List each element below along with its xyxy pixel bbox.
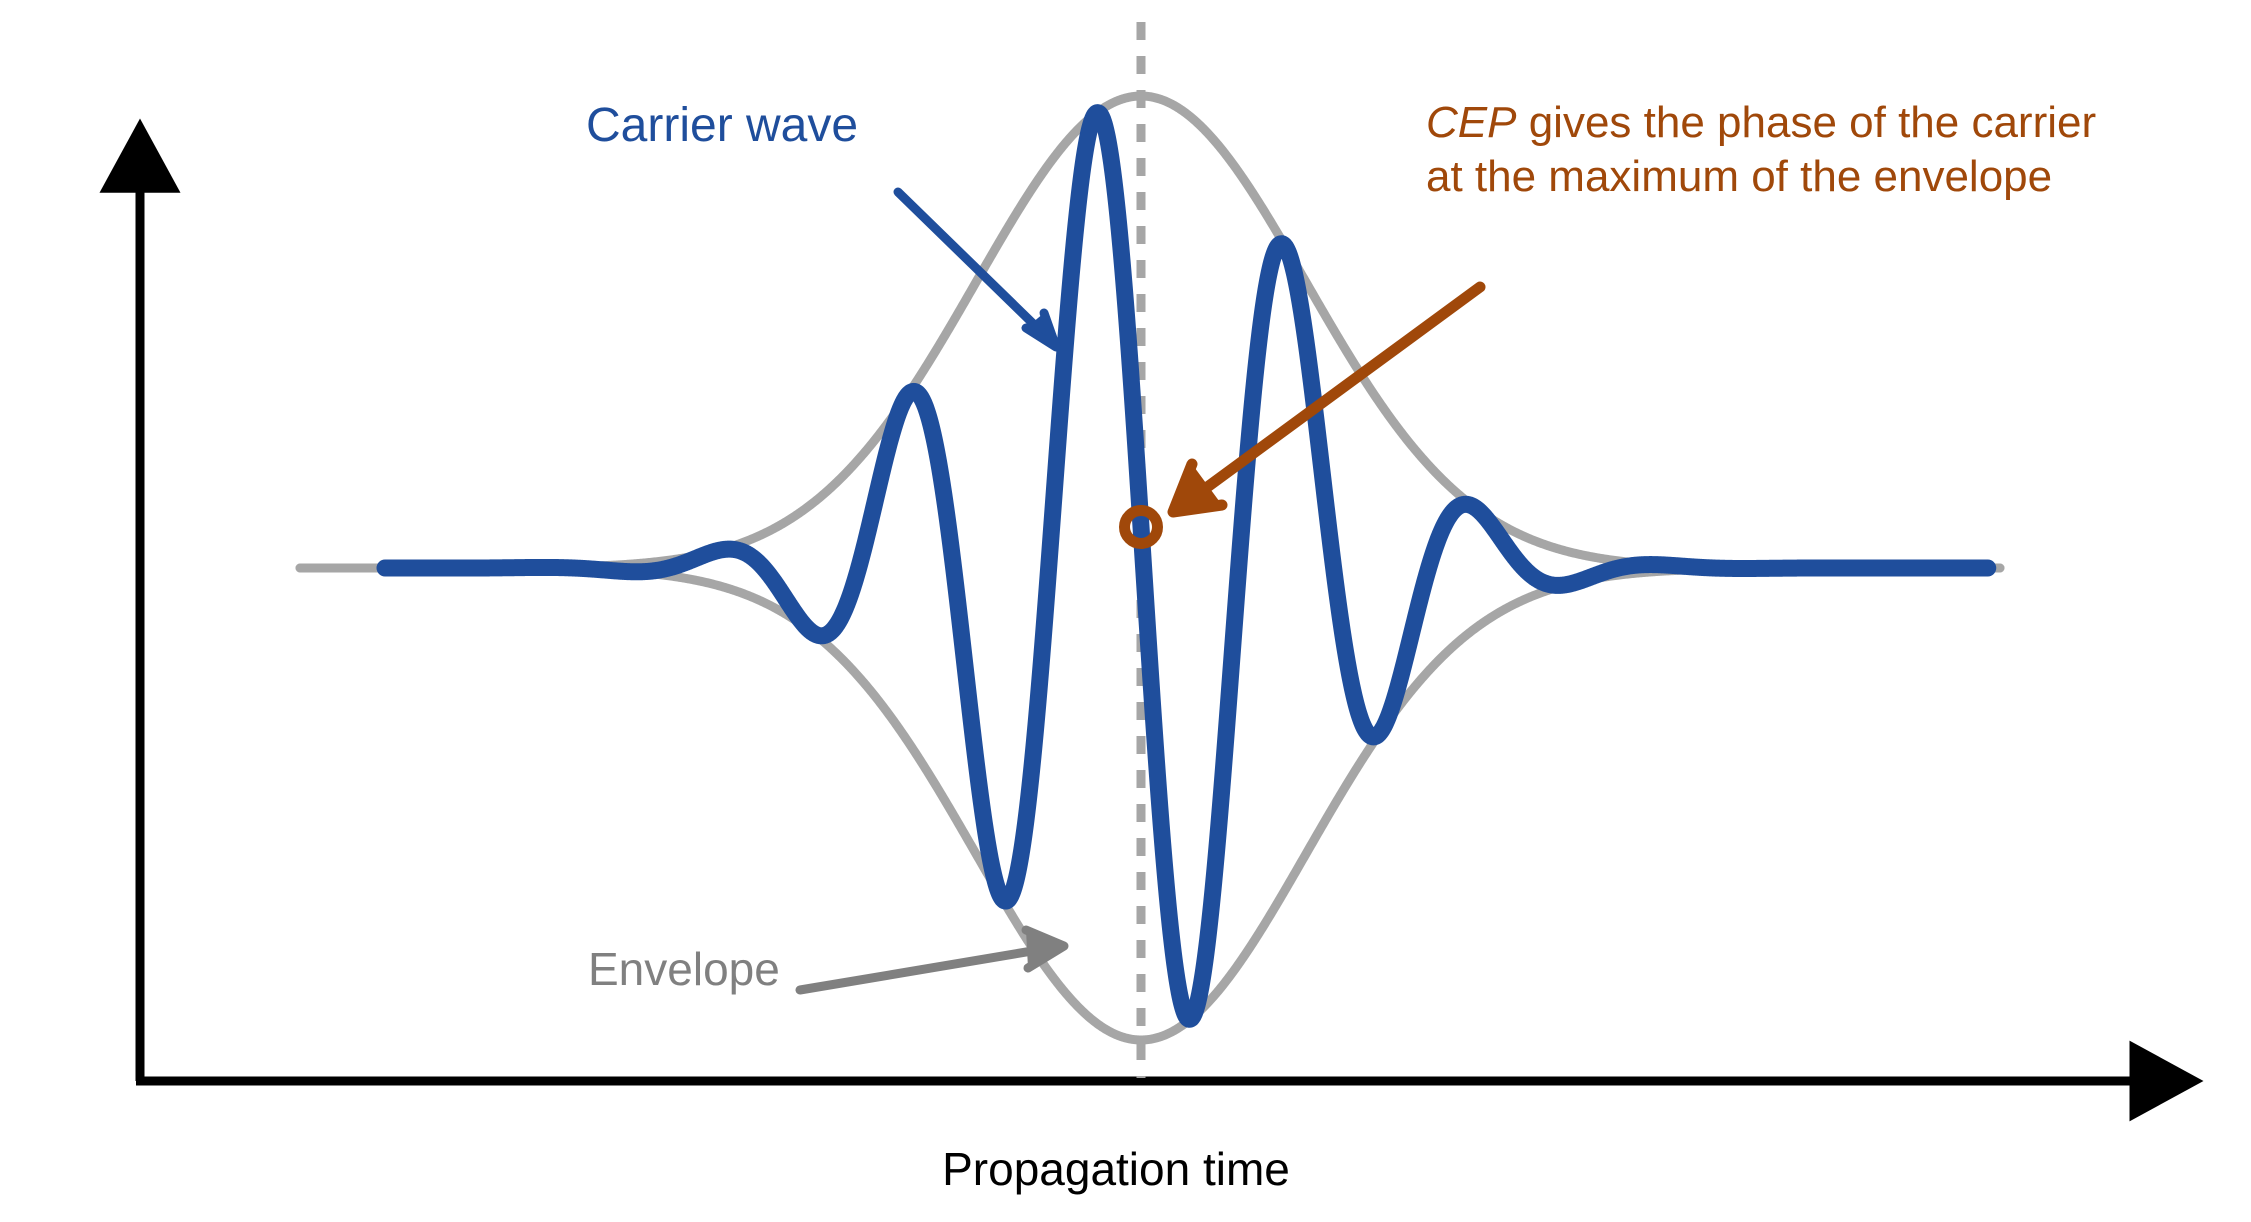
axis-group [136,132,2190,1081]
figure-canvas: Electric field Propagation time Carrier … [0,0,2251,1222]
carrier-wave-arrow [898,192,1056,347]
cep-line2: at the maximum of the envelope [1426,152,2052,201]
cep-line1-rest: gives the phase of the carrier [1516,98,2096,147]
envelope-label: Envelope [588,942,780,996]
carrier-wave-label: Carrier wave [586,98,858,155]
carrier-wave-curve [385,113,1988,1020]
y-axis-label: Electric field [0,345,46,765]
cep-acronym: CEP [1426,98,1516,147]
cep-annotation-text: CEP gives the phase of the carrierat the… [1426,96,2096,203]
x-axis-label: Propagation time [716,1142,1516,1196]
